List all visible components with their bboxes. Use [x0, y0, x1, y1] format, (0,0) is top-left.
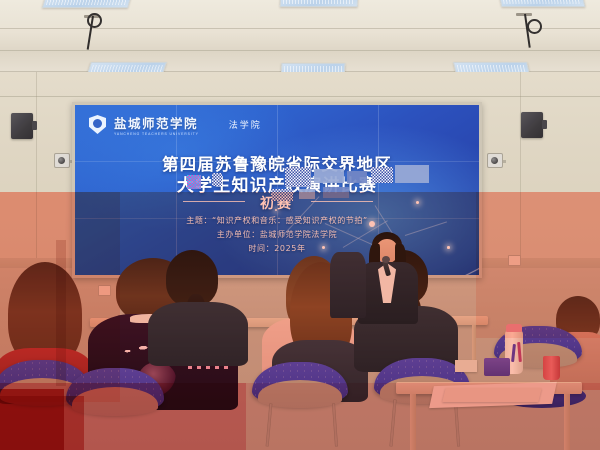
wall-camera-icon	[487, 153, 503, 168]
wall-panel-seam	[0, 96, 600, 97]
university-name-en: YANCHENG TEACHERS UNIVERSITY	[114, 132, 199, 136]
audience-person	[150, 250, 240, 360]
glitch-block	[299, 189, 315, 199]
glitch-block	[395, 165, 429, 183]
hanging-mic-icon	[527, 19, 542, 34]
university-name-cn: 盐城师范学院	[114, 113, 199, 132]
glitch-block	[347, 171, 367, 183]
hanging-mic-icon	[87, 13, 102, 28]
glitch-block	[314, 169, 344, 183]
notebook-page	[442, 388, 541, 402]
shield-icon	[89, 115, 106, 134]
chair-gap	[72, 387, 158, 416]
glitch-block	[271, 189, 293, 201]
microphone-head	[382, 256, 390, 263]
chair	[66, 368, 164, 414]
wall-panel-seam	[36, 72, 37, 258]
screenshot-canvas: 盐城师范学院 YANCHENG TEACHERS UNIVERSITY 法学院 …	[0, 0, 600, 450]
glitch-block	[323, 187, 349, 198]
panel-seam	[75, 161, 479, 162]
glitch-block	[371, 167, 393, 183]
ceiling-light-panel	[499, 0, 586, 7]
pencil-case	[484, 358, 510, 376]
glitch-block	[285, 167, 311, 187]
wall-camera-icon	[54, 153, 70, 168]
wall-outlet-icon	[508, 255, 521, 266]
wall-speaker-icon	[11, 113, 33, 139]
title-rule-right	[311, 201, 373, 202]
torso	[148, 302, 248, 366]
glitch-block	[212, 173, 222, 186]
desk-leg	[410, 394, 416, 450]
glitch-block	[187, 175, 201, 189]
red-cup	[543, 356, 560, 380]
sticky-label	[455, 360, 477, 372]
torso	[330, 252, 366, 318]
wall-speaker-icon	[521, 112, 543, 138]
department-name: 法学院	[229, 118, 262, 131]
standing-person	[330, 246, 366, 322]
ceiling-light-panel	[42, 0, 132, 8]
panel-seam	[75, 218, 479, 219]
chair	[252, 362, 348, 406]
ceiling-light-panel	[280, 0, 359, 7]
ceiling-seam	[0, 50, 600, 51]
bottle-cap	[506, 324, 522, 332]
wall-panel-seam	[520, 72, 521, 258]
desk-leg	[564, 394, 570, 450]
